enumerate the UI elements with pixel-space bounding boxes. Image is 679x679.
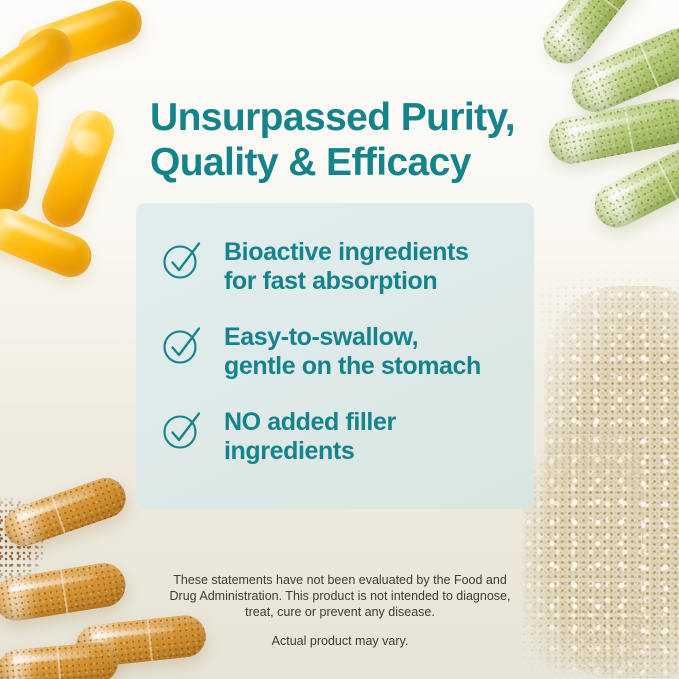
- feature-item-label: NO added filler ingredients: [224, 408, 396, 466]
- product-variance-note: Actual product may vary.: [139, 633, 541, 649]
- check-circle-icon: [162, 238, 204, 280]
- check-circle-icon: [162, 408, 204, 450]
- check-circle-icon: [162, 323, 204, 365]
- feature-item-bioactive: Bioactive ingredients for fast absorptio…: [162, 238, 522, 323]
- beige-powder-pile-image: [520, 260, 679, 679]
- feature-item-label: Bioactive ingredients for fast absorptio…: [224, 238, 468, 296]
- feature-item-no-fillers: NO added filler ingredients: [162, 408, 522, 493]
- fda-disclaimer: These statements have not been evaluated…: [139, 572, 541, 620]
- feature-item-label: Easy-to-swallow, gentle on the stomach: [224, 323, 481, 381]
- page-title: Unsurpassed Purity, Quality & Efficacy: [150, 95, 630, 185]
- feature-item-easy-to-swallow: Easy-to-swallow, gentle on the stomach: [162, 323, 522, 408]
- feature-list: Bioactive ingredients for fast absorptio…: [162, 238, 522, 493]
- product-feature-graphic: Unsurpassed Purity, Quality & Efficacy B…: [0, 0, 679, 679]
